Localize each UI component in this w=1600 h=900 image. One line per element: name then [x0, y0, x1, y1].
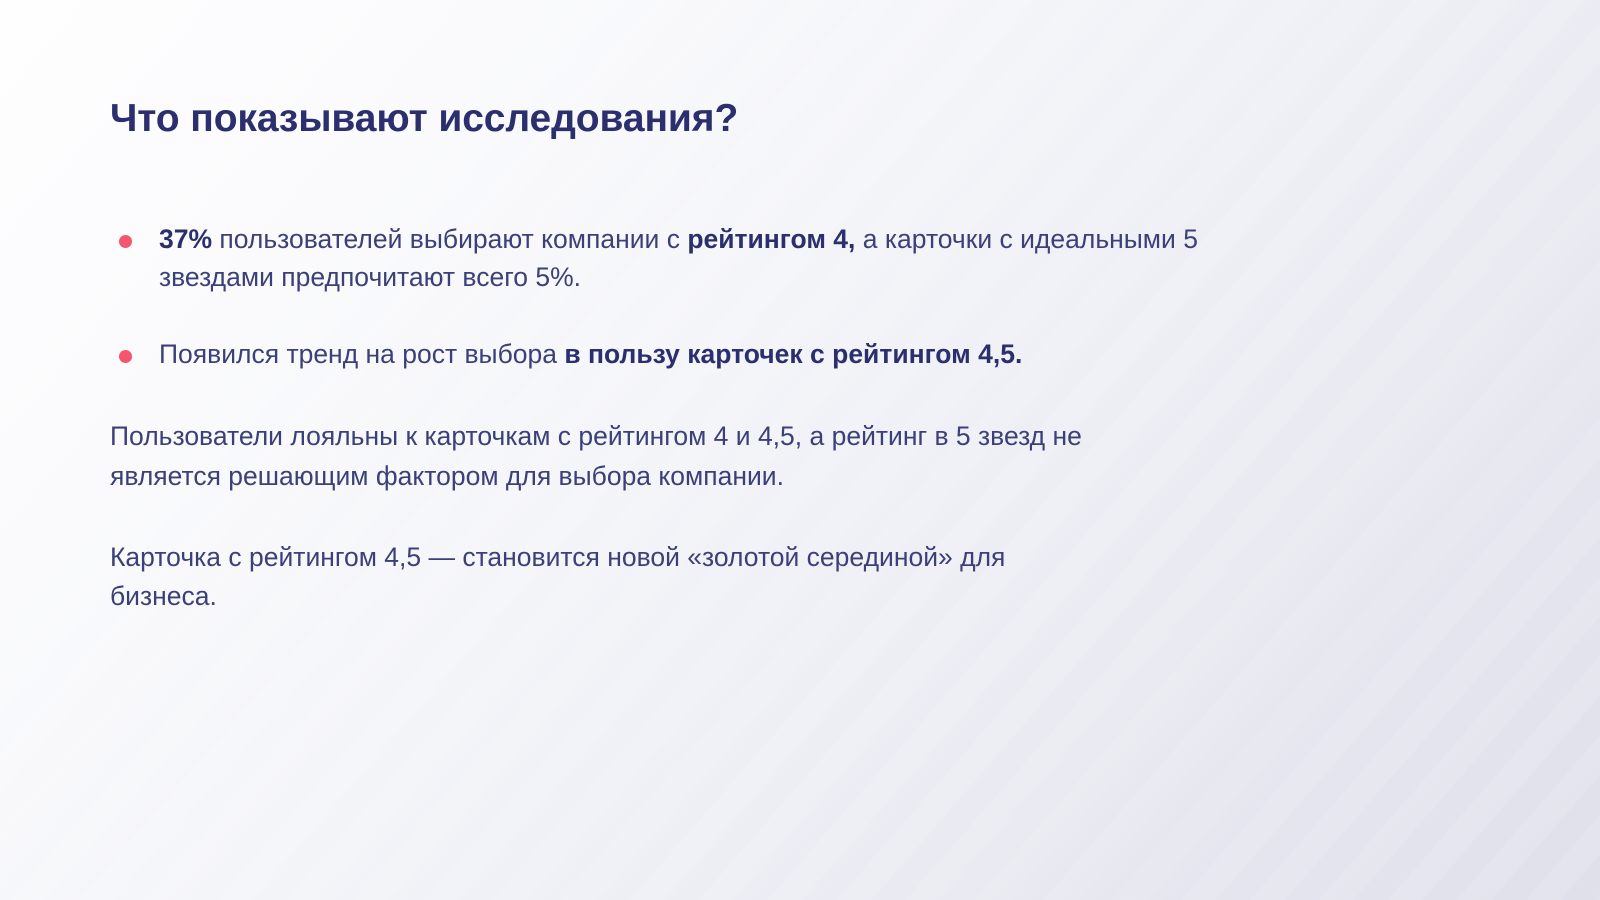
list-item: 37% пользователей выбирают компании с ре…: [110, 220, 1260, 297]
bullet-dot-icon: [119, 350, 132, 363]
bullet-emphasis-2: рейтингом 4,: [687, 224, 855, 254]
bullet-emphasis: 37%: [159, 224, 212, 254]
paragraph-golden-middle: Карточка с рейтингом 4,5 — становится но…: [110, 538, 1060, 616]
bullet-plain-1: пользователей выбирают компании с: [212, 224, 687, 254]
bullet-text: 37% пользователей выбирают компании с ре…: [159, 224, 1198, 292]
slide-content: Что показывают исследования? 37% пользов…: [110, 96, 1260, 616]
slide-canvas: Что показывают исследования? 37% пользов…: [0, 0, 1600, 900]
page-title: Что показывают исследования?: [110, 96, 1260, 142]
bullet-dot-icon: [119, 235, 132, 248]
bullet-plain-1: Появился тренд на рост выбора: [159, 339, 564, 369]
list-item: Появился тренд на рост выбора в пользу к…: [110, 335, 1260, 373]
paragraph-loyalty: Пользователи лояльны к карточкам с рейти…: [110, 417, 1200, 495]
bullet-list: 37% пользователей выбирают компании с ре…: [110, 220, 1260, 373]
bullet-text: Появился тренд на рост выбора в пользу к…: [159, 339, 1022, 369]
bullet-emphasis: в пользу карточек с рейтингом 4,5.: [564, 339, 1022, 369]
